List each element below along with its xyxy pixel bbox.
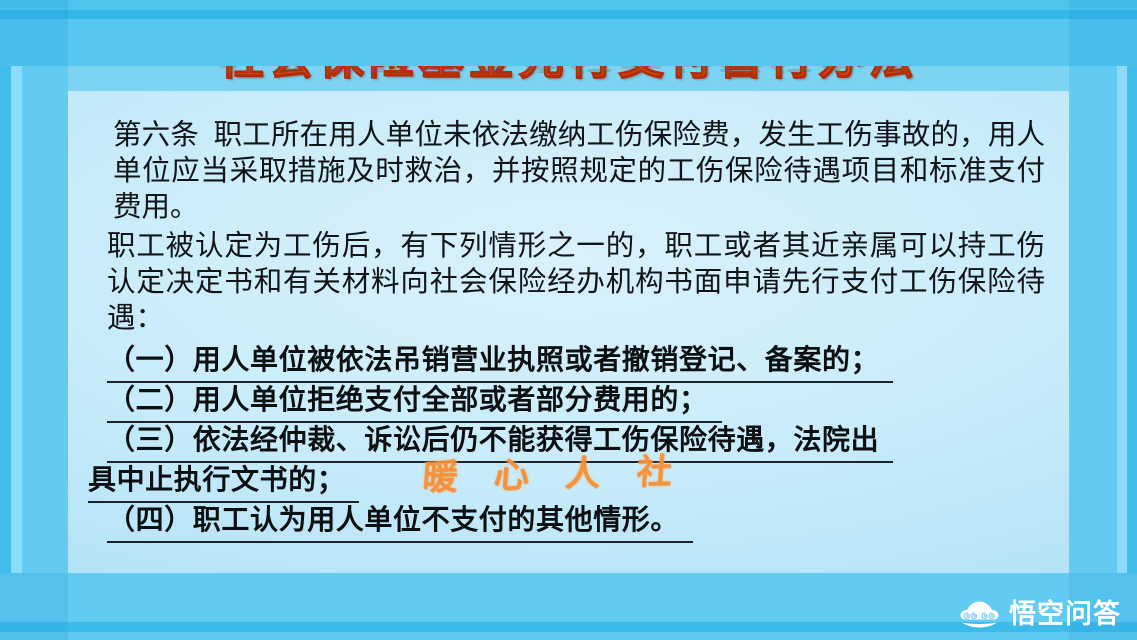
border-band-left-light — [11, 0, 22, 640]
wukong-logo-text: 悟空问答 — [1009, 601, 1121, 628]
conditions-list: （一）用人单位被依法吊销营业执照或者撤销登记、备案的； （二）用人单位拒绝支付全… — [68, 343, 1069, 543]
border-band-left-inner — [22, 0, 68, 640]
list-item-label: （四）职工认为用人单位不支付的其他情形。 — [107, 503, 693, 543]
slide-root: 社会保险基金先行支付暂行办法 社会保险基金先行支付暂行办法 第六条 职工所在用人… — [0, 0, 1137, 640]
list-item-label: （一）用人单位被依法吊销营业执照或者撤销登记、备案的； — [107, 343, 893, 383]
border-band-top-inner — [0, 19, 1137, 66]
title-block: 社会保险基金先行支付暂行办法 社会保险基金先行支付暂行办法 — [68, 66, 1069, 118]
page-title-reflection: 社会保险基金先行支付暂行办法 — [68, 66, 1069, 73]
corner-overlay-bottom-left — [0, 573, 68, 640]
list-item-label: （三）依法经仲裁、诉讼后仍不能获得工伤保险待遇，法院出 — [107, 423, 893, 463]
list-item: （四）职工认为用人单位不支付的其他情形。 — [107, 503, 1069, 543]
corner-overlay-top-left — [0, 0, 68, 66]
list-item: （一）用人单位被依法吊销营业执照或者撤销登记、备案的； — [107, 343, 1069, 383]
border-band-bottom-outer — [0, 632, 1137, 640]
list-item: （二）用人单位拒绝支付全部或者部分费用的； — [107, 383, 1069, 423]
border-band-top-dark — [0, 10, 1137, 19]
border-band-right-light — [1117, 0, 1127, 640]
content-panel: 社会保险基金先行支付暂行办法 社会保险基金先行支付暂行办法 第六条 职工所在用人… — [68, 66, 1069, 573]
paragraph-conditions-intro: 职工被认定为工伤后，有下列情形之一的，职工或者其近亲属可以持工伤认定决定书和有关… — [107, 229, 1045, 337]
list-item: （三）依法经仲裁、诉讼后仍不能获得工伤保险待遇，法院出 — [107, 423, 1069, 463]
paragraph-article-six: 第六条 职工所在用人单位未依法缴纳工伤保险费，发生工伤事故的，用人单位应当采取措… — [113, 118, 1045, 226]
border-band-right-inner — [1069, 0, 1117, 640]
list-item-label: 具中止执行文书的； — [88, 463, 359, 503]
border-band-right-outer — [1127, 0, 1137, 640]
wukong-logo: 悟空问答 — [959, 601, 1121, 628]
border-band-left-outer — [0, 0, 11, 640]
body-text-block: 第六条 职工所在用人单位未依法缴纳工伤保险费，发生工伤事故的，用人单位应当采取措… — [68, 118, 1069, 543]
cloud-icon — [959, 601, 1000, 628]
list-item-label: （二）用人单位拒绝支付全部或者部分费用的； — [107, 383, 722, 423]
corner-overlay-top-right — [1069, 0, 1137, 66]
list-item: 具中止执行文书的； — [88, 463, 1069, 503]
border-band-top-outer — [0, 0, 1137, 10]
